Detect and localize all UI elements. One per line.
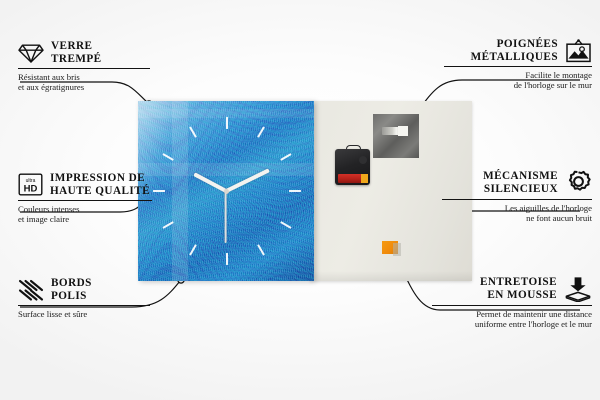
clock-front-panel xyxy=(138,101,314,281)
mechanism-body xyxy=(335,149,370,185)
callout-title: VERRE TREMPÉ xyxy=(51,40,102,65)
polished-edges-icon xyxy=(18,279,44,301)
clock-mechanism-part xyxy=(335,145,370,185)
clock-tick xyxy=(280,153,291,161)
foam-spacer-part xyxy=(382,241,398,254)
callout-title: POIGNÉES MÉTALLIQUES xyxy=(471,38,558,63)
callout-mecanisme-silencieux: MÉCANISME SILENCIEUX Les aiguilles de l'… xyxy=(442,170,592,223)
callout-description: Facilite le montage de l'horloge sur le … xyxy=(444,70,592,91)
clock-tick xyxy=(280,221,291,229)
callout-rule xyxy=(444,66,592,67)
clock-tick xyxy=(257,126,265,137)
gear-icon xyxy=(565,170,592,196)
callout-verre-trempe: VERRE TREMPÉ Résistant aux bris et aux é… xyxy=(18,40,150,93)
callout-poignees-metalliques: POIGNÉES MÉTALLIQUES Facilite le montage… xyxy=(444,38,592,91)
callout-rule xyxy=(18,305,150,306)
callout-rule xyxy=(442,199,592,200)
clock-second-hand xyxy=(225,191,227,243)
svg-text:HD: HD xyxy=(24,183,38,194)
clock-minute-hand xyxy=(225,168,270,192)
down-arrow-stack-icon xyxy=(564,276,592,302)
hanger-slot xyxy=(382,127,408,135)
clock-hour-hand xyxy=(193,172,227,192)
product-photo xyxy=(138,101,472,281)
metal-hanger-part xyxy=(373,114,419,158)
clock-tick xyxy=(226,117,228,129)
callout-title: ENTRETOISE EN MOUSSE xyxy=(480,276,557,301)
diamond-icon xyxy=(18,42,44,64)
callout-title: BORDS POLIS xyxy=(51,277,92,302)
callout-rule xyxy=(18,68,150,69)
callout-impression-haute-qualite: ultra HD IMPRESSION DE HAUTE QUALITÉ Cou… xyxy=(18,172,152,225)
callout-title: IMPRESSION DE HAUTE QUALITÉ xyxy=(50,172,150,197)
callout-description: Couleurs intenses et image claire xyxy=(18,204,152,225)
battery-terminal xyxy=(361,174,368,183)
callout-title: MÉCANISME SILENCIEUX xyxy=(483,170,558,195)
clock-tick xyxy=(226,253,228,265)
clock-tick xyxy=(162,221,173,229)
callout-description: Résistant aux bris et aux égratignures xyxy=(18,72,150,93)
callout-rule xyxy=(432,305,592,306)
clock-tick xyxy=(189,126,197,137)
callout-rule xyxy=(18,200,152,201)
clock-tick xyxy=(189,244,197,255)
clock-tick xyxy=(289,190,301,192)
clock-tick xyxy=(162,153,173,161)
callout-bords-polis: BORDS POLIS Surface lisse et sûre xyxy=(18,277,150,319)
infographic-stage: VERRE TREMPÉ Résistant aux bris et aux é… xyxy=(0,0,600,400)
picture-frame-icon xyxy=(565,39,592,63)
ultra-hd-icon: ultra HD xyxy=(18,173,43,196)
clock-tick xyxy=(153,190,165,192)
clock-center-pin xyxy=(224,189,229,194)
battery xyxy=(338,174,364,183)
callout-entretoise-en-mousse: ENTRETOISE EN MOUSSE Permet de maintenir… xyxy=(432,276,592,329)
callout-description: Permet de maintenir une distance uniform… xyxy=(432,309,592,330)
callout-description: Les aiguilles de l'horloge ne font aucun… xyxy=(442,203,592,224)
mechanism-dial xyxy=(359,156,367,164)
clock-face xyxy=(138,101,314,281)
clock-tick xyxy=(257,244,265,255)
callout-description: Surface lisse et sûre xyxy=(18,309,150,319)
